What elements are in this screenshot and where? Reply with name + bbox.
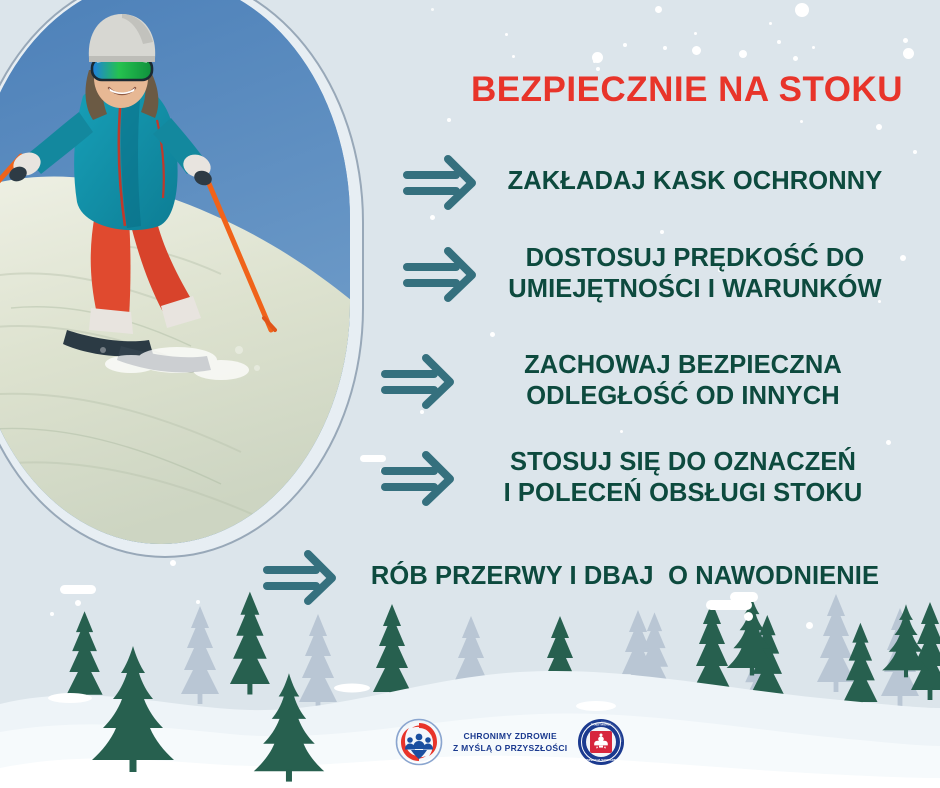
tip-row-speed: DOSTOSUJ PRĘDKOŚĆ DO UMIEJĘTNOŚCI I WARU… — [402, 243, 940, 305]
tip-text: STOSUJ SIĘ DO OZNACZEŃ I POLECEŃ OBSŁUGI… — [458, 447, 908, 509]
page-title-text: BEZPIECZNIE NA STOKU — [471, 72, 903, 107]
content-column: BEZPIECZNIE NA STOKU ZAKŁADAJ KASK OCHRO… — [250, 0, 940, 620]
tip-row-helmet: ZAKŁADAJ KASK OCHRONNY — [402, 153, 940, 211]
footer-logos: CHRONIMY ZDROWIE Z MYŚLĄ O PRZYSZŁOŚCI — [395, 718, 625, 766]
panstwowa-inspekcja-sanitarna-seal: PAŃSTWOWA INSPEKCJA SANITARNA — [577, 718, 625, 766]
tip-text: RÓB PRZERWY I DBAJ O NAWODNIENIE — [340, 561, 910, 592]
tip-text: ZACHOWAJ BEZPIECZNA ODLEGŁOŚĆ OD INNYCH — [458, 350, 908, 412]
arrow-right-icon — [262, 548, 340, 606]
svg-text:INSPEKCJA SANITARNA: INSPEKCJA SANITARNA — [584, 758, 619, 762]
campaign-slogan: CHRONIMY ZDROWIE Z MYŚLĄ O PRZYSZŁOŚCI — [453, 730, 567, 755]
arrow-right-icon — [402, 153, 480, 211]
chronimy-zdrowie-logo — [395, 718, 443, 766]
infographic-poster: BEZPIECZNIE NA STOKU ZAKŁADAJ KASK OCHRO… — [0, 0, 940, 788]
svg-text:PAŃSTWOWA: PAŃSTWOWA — [591, 722, 612, 727]
arrow-right-icon — [402, 245, 480, 303]
arrow-right-icon — [380, 352, 458, 410]
tip-row-distance: ZACHOWAJ BEZPIECZNA ODLEGŁOŚĆ OD INNYCH — [380, 350, 940, 412]
tip-text: ZAKŁADAJ KASK OCHRONNY — [480, 166, 910, 197]
arrow-right-icon — [380, 449, 458, 507]
tip-row-breaks: RÓB PRZERWY I DBAJ O NAWODNIENIE — [262, 548, 940, 606]
page-title: BEZPIECZNIE NA STOKU — [250, 72, 940, 107]
tip-row-signs: STOSUJ SIĘ DO OZNACZEŃ I POLECEŃ OBSŁUGI… — [380, 447, 940, 509]
tip-text: DOSTOSUJ PRĘDKOŚĆ DO UMIEJĘTNOŚCI I WARU… — [480, 243, 910, 305]
